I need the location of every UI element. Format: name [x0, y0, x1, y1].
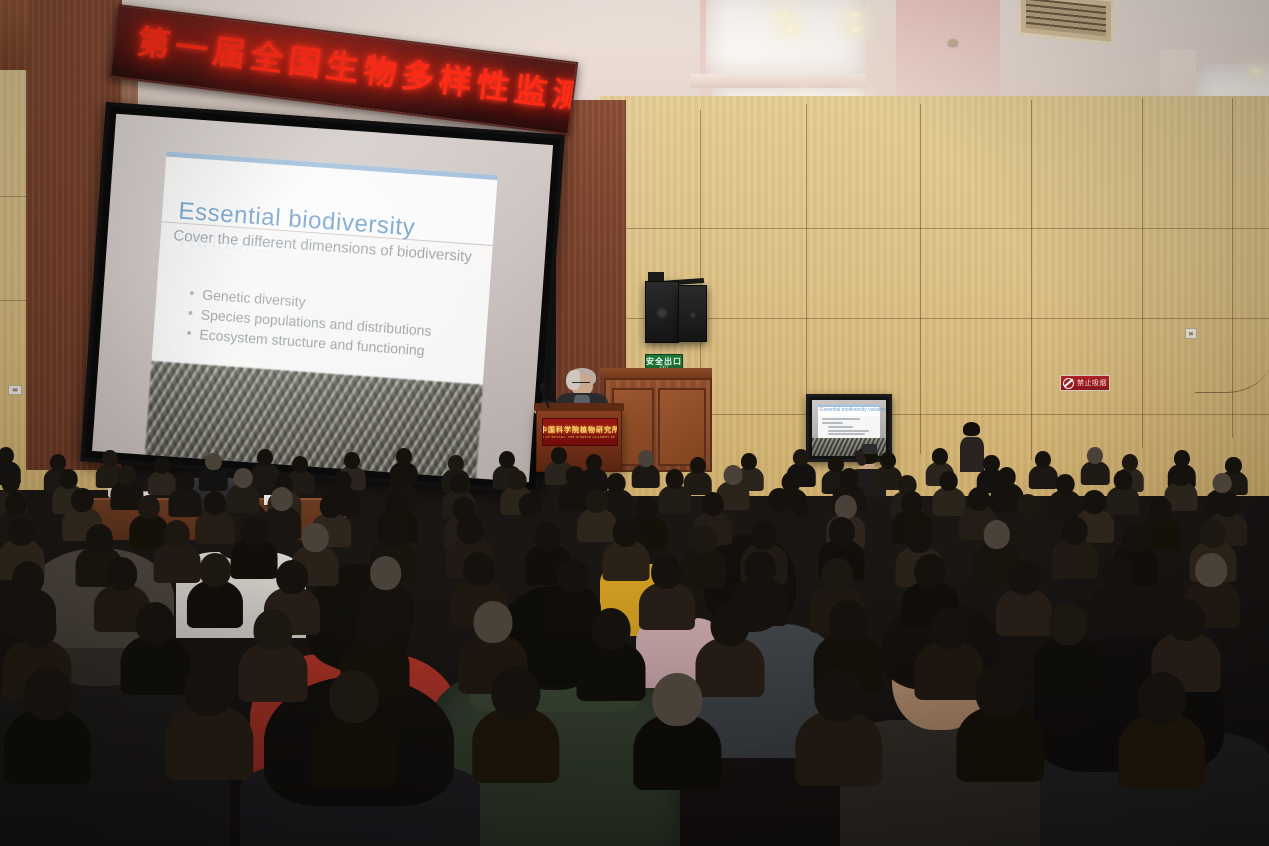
- audience-head: [1137, 672, 1186, 725]
- audience-head: [1087, 447, 1103, 464]
- audience-head: [333, 471, 352, 491]
- audience-head: [768, 488, 790, 512]
- audience-head: [204, 491, 226, 515]
- audience-head: [12, 561, 44, 595]
- audience-head: [329, 670, 378, 723]
- audience-head: [508, 470, 527, 490]
- loudspeaker: [645, 281, 679, 343]
- audience-head: [939, 471, 958, 491]
- audience-head: [690, 525, 717, 554]
- audience-head: [5, 492, 27, 516]
- podium-nameplate-en: INSTITUTE OF BOTANY, THE CHINESE ACADEMY…: [542, 435, 618, 439]
- audience-member: [957, 665, 1044, 794]
- audience-member: [199, 453, 228, 495]
- audience-head: [557, 559, 589, 593]
- podium-nameplate: 中国科学院植物研究所 INSTITUTE OF BOTANY, THE CHIN…: [542, 418, 618, 446]
- audience-head: [254, 609, 293, 651]
- audience-head: [635, 496, 657, 520]
- audience-head: [1172, 466, 1191, 486]
- audience-shoulders: [1081, 461, 1110, 486]
- audience-head: [1213, 473, 1232, 493]
- audience-member: [472, 666, 559, 795]
- audience-head: [320, 494, 342, 518]
- audience-member: [310, 670, 397, 799]
- audience-head: [457, 515, 484, 544]
- audience-head: [665, 469, 684, 489]
- audience-head: [976, 665, 1025, 718]
- audience-head: [1167, 599, 1206, 641]
- audience-head: [199, 553, 231, 587]
- wall-seam: [920, 104, 921, 454]
- audience-head: [710, 604, 749, 646]
- audience-shoulders: [631, 464, 660, 489]
- audience-member: [166, 663, 253, 792]
- audience-member: [187, 553, 243, 636]
- audience-head: [652, 673, 701, 726]
- audience-head: [71, 488, 93, 512]
- audience-head: [386, 490, 408, 514]
- audience-head: [1102, 557, 1134, 591]
- audience-head: [491, 666, 540, 719]
- audience-member: [4, 667, 91, 796]
- audience-head: [1216, 493, 1238, 517]
- audience-head: [292, 456, 308, 473]
- audience-head: [901, 491, 923, 515]
- wall-seam: [1031, 100, 1032, 460]
- audience-head: [234, 468, 253, 488]
- audience-head: [880, 452, 896, 469]
- audience-head: [137, 495, 159, 519]
- audience-head: [930, 607, 969, 649]
- downlight: [845, 10, 862, 21]
- audience-head: [355, 605, 394, 647]
- monitor-body: [818, 415, 880, 437]
- downlight: [1248, 66, 1265, 77]
- audience-head: [270, 487, 292, 511]
- audience-head: [135, 602, 174, 644]
- audience-head: [751, 521, 778, 550]
- audience-head: [723, 465, 742, 485]
- ceiling-rim: [690, 74, 880, 88]
- audience-head: [840, 468, 859, 488]
- audience-member: [632, 450, 661, 492]
- audience-head: [370, 556, 402, 590]
- audience-member: [639, 555, 695, 638]
- audience-head: [814, 669, 863, 722]
- audience-member: [795, 669, 882, 798]
- audience-member: [1118, 672, 1205, 801]
- slide: Essential biodiversity variables Cover t…: [146, 151, 498, 458]
- audience-member: [195, 491, 235, 549]
- audience-head: [154, 457, 170, 474]
- audience-head: [1008, 561, 1040, 595]
- audience-head: [1150, 497, 1172, 521]
- audience-head: [17, 606, 56, 648]
- audience-head: [651, 555, 683, 589]
- no-smoking-icon: [1063, 378, 1074, 389]
- audience-head: [447, 455, 463, 472]
- audience-head: [106, 557, 138, 591]
- audience-head: [744, 551, 776, 585]
- audience-head: [535, 522, 562, 551]
- audience-head: [829, 600, 868, 642]
- audience-head: [118, 465, 137, 485]
- audience-head: [821, 558, 853, 592]
- audience-head: [1225, 457, 1241, 474]
- wall-outlet: [8, 385, 22, 395]
- downlight: [847, 24, 864, 35]
- audience-head: [702, 492, 724, 516]
- downlight: [782, 24, 799, 35]
- audience-head: [23, 667, 72, 720]
- audience-head: [473, 601, 512, 643]
- wood-trim: [0, 0, 30, 70]
- audience-head: [932, 448, 948, 465]
- projection-screen: Essential biodiversity variables Cover t…: [80, 102, 565, 494]
- audience-head: [906, 524, 933, 553]
- screen-surface: Essential biodiversity variables Cover t…: [92, 114, 553, 482]
- smoke-detector-icon: [948, 39, 958, 46]
- audience-head: [997, 467, 1016, 487]
- audience-head: [176, 472, 195, 492]
- audience-head: [967, 487, 989, 511]
- no-smoking-label: 禁止吸烟: [1077, 378, 1107, 388]
- audience-head: [257, 449, 273, 466]
- audience-head: [834, 495, 856, 519]
- monitor-title: Essential biodiversity variables: [820, 407, 886, 413]
- audience-head: [379, 519, 406, 548]
- audience-head: [1083, 490, 1105, 514]
- audience-head: [1048, 603, 1087, 645]
- downlight: [776, 10, 793, 21]
- audience-head: [1114, 470, 1133, 490]
- audience-head: [1122, 454, 1138, 471]
- audience-head: [1196, 553, 1228, 587]
- microphone-head: [540, 383, 545, 388]
- slide-bullet-list: Genetic diversity Species populations an…: [186, 283, 483, 365]
- audience-head: [638, 450, 654, 467]
- audience-head: [163, 520, 190, 549]
- audience-head: [396, 448, 412, 465]
- audience-head: [1, 473, 20, 493]
- audience-head: [499, 451, 515, 468]
- audience-head: [8, 517, 35, 546]
- audience-member: [1081, 447, 1110, 489]
- wall-seam: [600, 228, 1269, 229]
- audience-head: [793, 449, 809, 466]
- audience-head: [828, 517, 855, 546]
- audience-head: [984, 520, 1011, 549]
- audience-head: [59, 469, 78, 489]
- audience-head: [205, 453, 221, 470]
- audience-head: [86, 524, 113, 553]
- audience-head: [276, 560, 308, 594]
- auditorium-photo: 第一届全国生物多样性监测研讨会 Essential biodiversity v…: [0, 0, 1269, 846]
- audience-head: [1200, 519, 1227, 548]
- audience-head: [463, 552, 495, 586]
- audience-head: [915, 554, 947, 588]
- audience-head: [1055, 474, 1074, 494]
- podium-nameplate-cn: 中国科学院植物研究所: [542, 425, 618, 435]
- wall-seam: [806, 104, 807, 404]
- audience-head: [1035, 451, 1051, 468]
- audience-head: [241, 516, 268, 545]
- audience-head: [519, 493, 541, 517]
- audience-head: [592, 608, 631, 650]
- audience-head: [551, 447, 567, 464]
- wall-seam: [1142, 98, 1143, 448]
- audience-head: [689, 457, 705, 474]
- audience-member: [634, 673, 721, 802]
- audience-head: [185, 663, 234, 716]
- audience-head: [450, 474, 469, 494]
- no-smoking-sign: 禁止吸烟: [1060, 375, 1110, 391]
- audience-shoulders: [199, 467, 228, 492]
- audience-head: [1122, 523, 1149, 552]
- audience-head: [612, 518, 639, 547]
- audience-head: [1174, 450, 1190, 467]
- loudspeaker: [678, 285, 707, 342]
- audience-head: [1017, 494, 1039, 518]
- audience-head: [1061, 516, 1088, 545]
- audience-head: [586, 489, 608, 513]
- audience-head: [302, 523, 329, 552]
- audience-head: [391, 467, 410, 487]
- audience-head: [566, 466, 585, 486]
- audience-head: [344, 452, 360, 469]
